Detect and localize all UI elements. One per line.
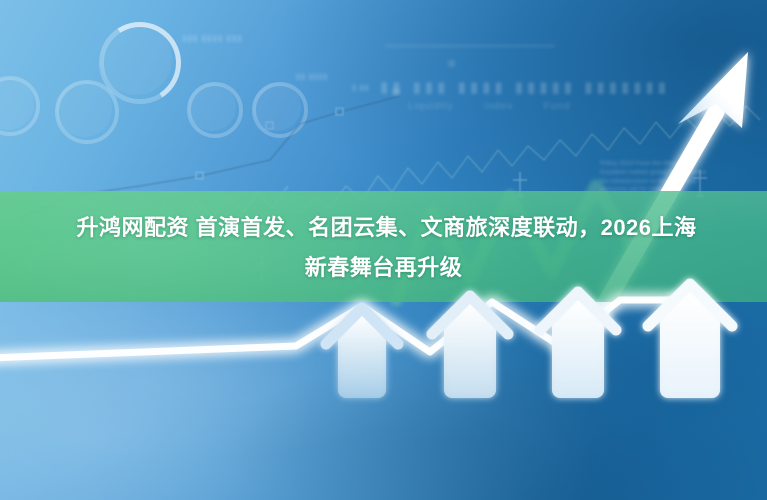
arrow-bar-2 <box>432 296 508 398</box>
upward-arrow-bars-icon <box>326 284 732 398</box>
banner-image: ▮▮▮ ▮▮▮▮ ▮▮▮ ▮▮ ▮▮▮▮ ▮ ▮▮ ▮▮ ▮▮▮ ▮▮▮▮ ▮▮… <box>0 0 767 500</box>
foreground-vector-layer <box>0 0 767 500</box>
